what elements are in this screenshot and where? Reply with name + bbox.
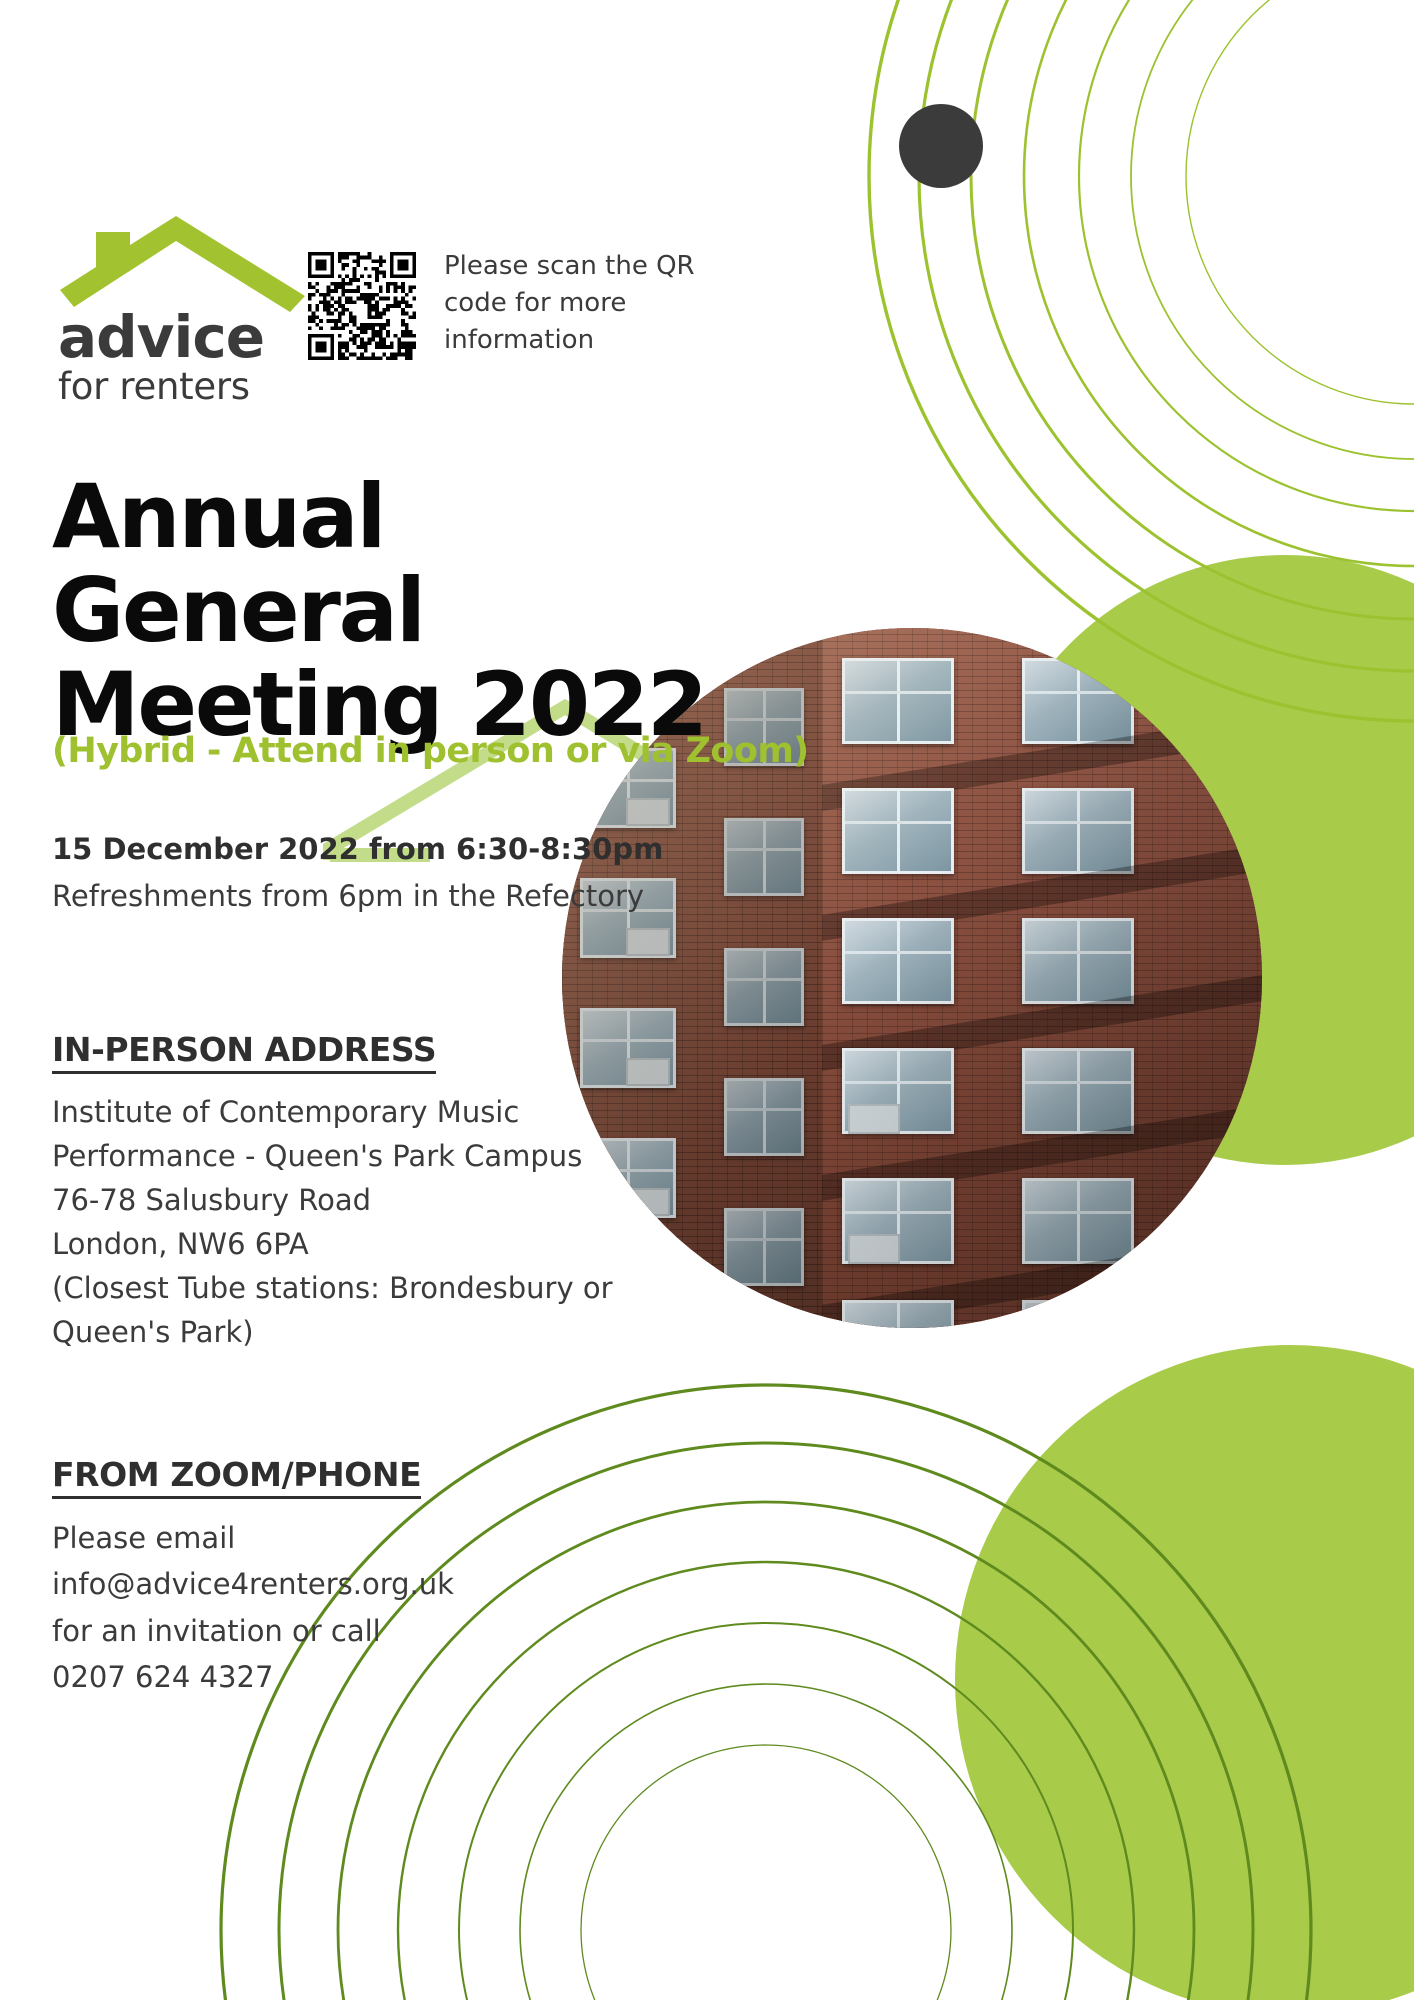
event-refreshments: Refreshments from 6pm in the Refectory (52, 873, 692, 920)
text-line: Please email (52, 1515, 612, 1561)
brand-logo: advice for renters (58, 212, 318, 407)
ring-tr-3 (971, 0, 1414, 619)
qr-code-svg (308, 252, 416, 360)
house-roof-icon (58, 212, 308, 312)
page-title: Annual General Meeting 2022 (52, 470, 782, 752)
in-person-address-heading: IN-PERSON ADDRESS (52, 1030, 436, 1074)
qr-instruction-text: Please scan the QR code for more informa… (444, 248, 714, 359)
logo-wordmark: advice (58, 308, 318, 366)
ring-tr-7 (1186, 0, 1414, 404)
text-line: Institute of Contemporary Music (52, 1090, 672, 1134)
qr-code-icon[interactable] (308, 252, 416, 360)
ring-tr-4 (1024, 0, 1414, 566)
dark-dot (899, 104, 983, 188)
ring-tr-1 (869, 0, 1414, 721)
ring-tr-2 (919, 0, 1414, 671)
page-subtitle: (Hybrid - Attend in person or via Zoom) (52, 730, 812, 772)
text-line: 0207 624 4327 (52, 1654, 612, 1700)
text-line: for an invitation or call (52, 1608, 612, 1654)
ring-b-6 (520, 1684, 1012, 2000)
event-when-block: 15 December 2022 from 6:30-8:30pm Refres… (52, 826, 692, 920)
in-person-address-lines: Institute of Contemporary MusicPerforman… (52, 1090, 672, 1354)
text-line: Performance - Queen's Park Campus (52, 1134, 672, 1178)
text-line: (Closest Tube stations: Brondesbury or (52, 1266, 672, 1310)
remote-attendance-lines: Please emailinfo@advice4renters.org.ukfo… (52, 1515, 612, 1701)
remote-attendance-block: FROM ZOOM/PHONE Please emailinfo@advice4… (52, 1455, 612, 1701)
text-line: info@advice4renters.org.uk (52, 1561, 612, 1607)
green-blob-bottom-right (955, 1345, 1414, 2000)
ring-b-7 (581, 1745, 951, 2000)
ring-tr-6 (1131, 0, 1414, 459)
event-date: 15 December 2022 from 6:30-8:30pm (52, 826, 692, 873)
text-line: Queen's Park) (52, 1310, 672, 1354)
logo-tagline: for renters (58, 368, 318, 407)
text-line: London, NW6 6PA (52, 1222, 672, 1266)
text-line: 76-78 Salusbury Road (52, 1178, 672, 1222)
ring-tr-5 (1079, 0, 1414, 511)
remote-attendance-heading: FROM ZOOM/PHONE (52, 1455, 421, 1499)
in-person-address-block: IN-PERSON ADDRESS Institute of Contempor… (52, 1030, 672, 1354)
